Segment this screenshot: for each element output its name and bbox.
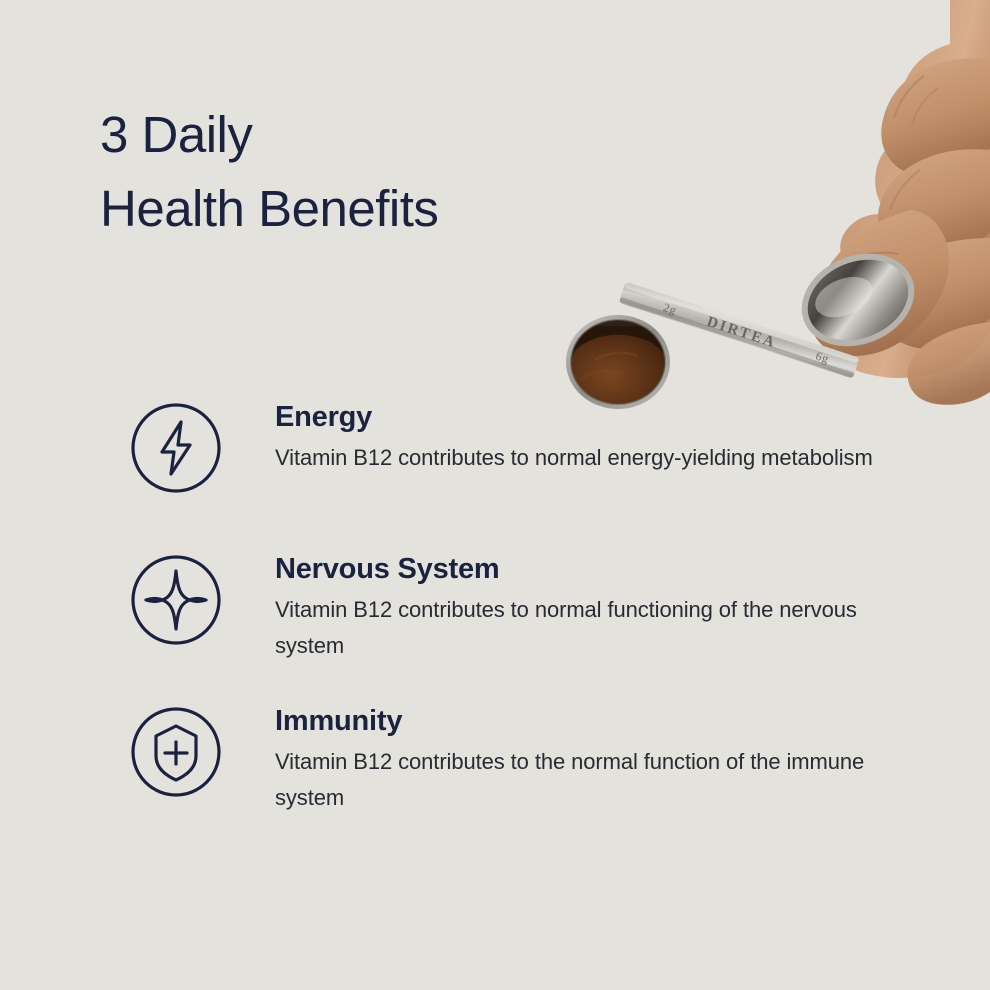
benefit-description: Vitamin B12 contributes to the normal fu…: [275, 744, 875, 816]
benefit-description: Vitamin B12 contributes to normal functi…: [275, 592, 875, 664]
benefit-title: Energy: [275, 398, 890, 436]
svg-text:2g: 2g: [662, 300, 679, 317]
benefit-item-immunity: Immunity Vitamin B12 contributes to the …: [130, 702, 890, 832]
benefits-list: Energy Vitamin B12 contributes to normal…: [130, 398, 890, 832]
product-photo-hand-holding-measuring-spoon: 2g DIRTEA 6g: [520, 0, 990, 420]
benefit-item-nervous-system: Nervous System Vitamin B12 contributes t…: [130, 550, 890, 680]
page-title-line-1: 3 Daily: [100, 98, 438, 172]
svg-text:DIRTEA: DIRTEA: [705, 314, 779, 352]
benefit-title: Immunity: [275, 702, 890, 740]
lightning-bolt-icon: [130, 402, 222, 494]
shield-plus-icon: [130, 706, 222, 798]
sparkle-star-icon: [130, 554, 222, 646]
page-title: 3 Daily Health Benefits: [100, 98, 438, 246]
benefit-description: Vitamin B12 contributes to normal energy…: [275, 440, 875, 476]
benefit-item-energy: Energy Vitamin B12 contributes to normal…: [130, 398, 890, 528]
page-title-line-2: Health Benefits: [100, 172, 438, 246]
benefit-title: Nervous System: [275, 550, 890, 588]
svg-text:6g: 6g: [814, 349, 831, 366]
